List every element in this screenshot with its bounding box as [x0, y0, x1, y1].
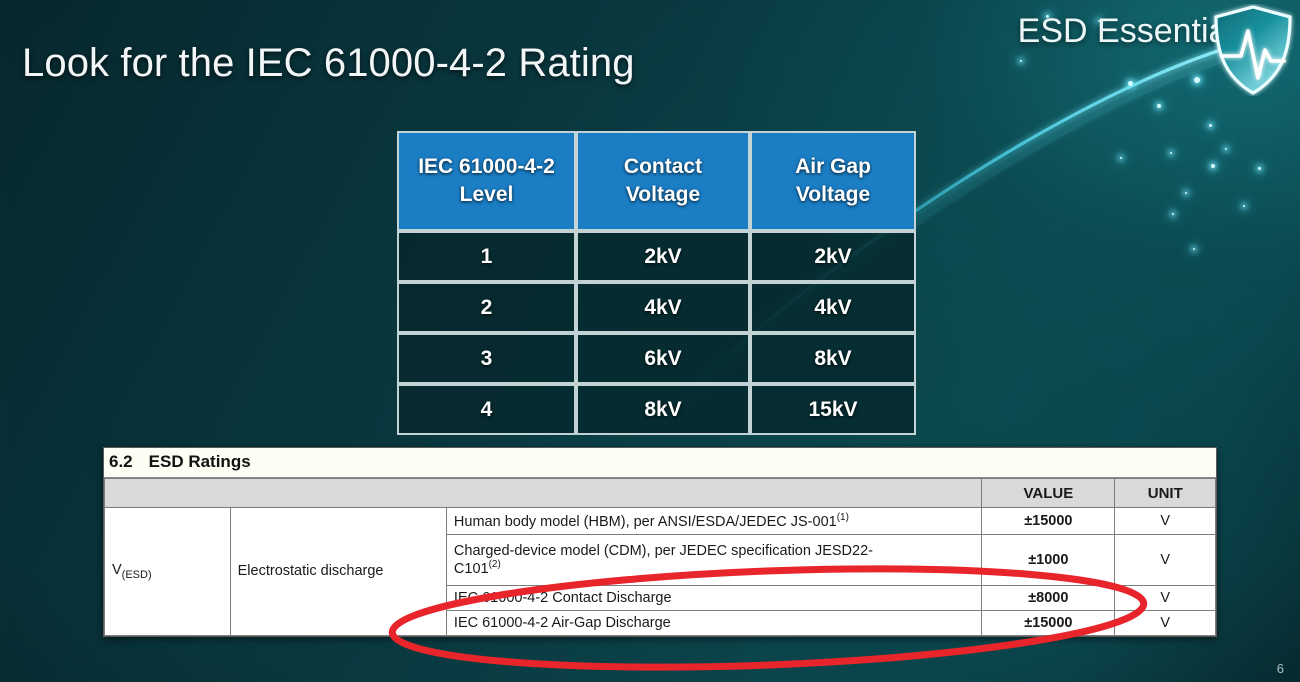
table-row: 3 6kV 8kV — [397, 333, 916, 384]
cell-unit: V — [1115, 508, 1216, 535]
header-blank — [105, 479, 982, 508]
page-title: Look for the IEC 61000-4-2 Rating — [22, 41, 635, 86]
sparkle-dot — [1194, 77, 1200, 83]
header-line-1: IEC 61000-4-2 — [418, 155, 555, 178]
description-text: Human body model (HBM), per ANSI/ESDA/JE… — [454, 514, 837, 530]
sparkle-dot — [1211, 164, 1215, 168]
header-line-2: Voltage — [626, 183, 700, 206]
header-line-1: Contact — [624, 155, 702, 178]
cell-contact: 2kV — [576, 231, 750, 282]
cell-unit: V — [1115, 534, 1216, 585]
cell-contact: 6kV — [576, 333, 750, 384]
cell-symbol: V(ESD) — [105, 508, 231, 636]
sparkle-dot — [1258, 167, 1261, 170]
sparkle-dot — [1225, 148, 1227, 150]
table-row: V(ESD) Electrostatic discharge Human bod… — [105, 508, 1216, 535]
cell-airgap: 4kV — [750, 282, 916, 333]
footnote-marker: (2) — [489, 559, 501, 570]
cell-parameter: Electrostatic discharge — [230, 508, 446, 636]
sparkle-dot — [1170, 152, 1172, 154]
header-line-2: Level — [460, 183, 514, 206]
cell-value: ±15000 — [982, 508, 1115, 535]
cell-airgap: 15kV — [750, 384, 916, 435]
datasheet-excerpt: 6.2 ESD Ratings VALUE UNIT V(ESD) — [103, 447, 1217, 637]
iec-level-table: IEC 61000-4-2 Level Contact Voltage Air … — [397, 131, 916, 435]
cell-description: IEC 61000-4-2 Contact Discharge — [446, 585, 981, 610]
brand-lockup: ESD Essentials — [1018, 12, 1252, 51]
sparkle-dot — [1020, 60, 1022, 62]
slide-canvas: Look for the IEC 61000-4-2 Rating ESD Es… — [0, 0, 1300, 682]
table-row: 2 4kV 4kV — [397, 282, 916, 333]
cell-value: ±8000 — [982, 585, 1115, 610]
cell-description: IEC 61000-4-2 Air-Gap Discharge — [446, 610, 981, 635]
description-text-line2: C101 — [454, 561, 489, 577]
shield-pulse-icon — [1210, 4, 1296, 96]
cell-contact: 8kV — [576, 384, 750, 435]
esd-ratings-table: VALUE UNIT V(ESD) Electrostatic discharg… — [104, 478, 1216, 636]
cell-level: 2 — [397, 282, 576, 333]
sparkle-dot — [1157, 104, 1161, 108]
cell-unit: V — [1115, 610, 1216, 635]
page-number: 6 — [1277, 661, 1284, 676]
section-number: 6.2 — [109, 452, 133, 472]
cell-level: 1 — [397, 231, 576, 282]
symbol-subscript: (ESD) — [122, 569, 152, 581]
cell-value: ±1000 — [982, 534, 1115, 585]
table-row: 4 8kV 15kV — [397, 384, 916, 435]
section-title: ESD Ratings — [149, 452, 251, 472]
sparkle-dot — [1128, 81, 1133, 86]
cell-level: 3 — [397, 333, 576, 384]
sparkle-dot — [1120, 157, 1122, 159]
table-header-row: IEC 61000-4-2 Level Contact Voltage Air … — [397, 131, 916, 231]
cell-description: Charged-device model (CDM), per JEDEC sp… — [446, 534, 981, 585]
cell-unit: V — [1115, 585, 1216, 610]
cell-airgap: 2kV — [750, 231, 916, 282]
footnote-marker: (1) — [837, 512, 849, 523]
cell-contact: 4kV — [576, 282, 750, 333]
table-header-row: VALUE UNIT — [105, 479, 1216, 508]
header-unit: UNIT — [1115, 479, 1216, 508]
sparkle-dot — [1209, 124, 1212, 127]
datasheet-section-heading: 6.2 ESD Ratings — [104, 448, 1216, 478]
cell-value: ±15000 — [982, 610, 1115, 635]
sparkle-dot — [1172, 213, 1174, 215]
header-contact-voltage: Contact Voltage — [576, 131, 750, 231]
sparkle-dot — [1193, 248, 1195, 250]
cell-airgap: 8kV — [750, 333, 916, 384]
symbol-base: V — [112, 562, 122, 578]
sparkle-dot — [1185, 192, 1187, 194]
description-text: Charged-device model (CDM), per JEDEC sp… — [454, 543, 873, 559]
header-value: VALUE — [982, 479, 1115, 508]
header-iec-level: IEC 61000-4-2 Level — [397, 131, 576, 231]
sparkle-dot — [1243, 205, 1245, 207]
cell-description: Human body model (HBM), per ANSI/ESDA/JE… — [446, 508, 981, 535]
table-row: 1 2kV 2kV — [397, 231, 916, 282]
header-line-1: Air Gap — [795, 155, 871, 178]
header-line-2: Voltage — [796, 183, 870, 206]
header-air-gap-voltage: Air Gap Voltage — [750, 131, 916, 231]
cell-level: 4 — [397, 384, 576, 435]
